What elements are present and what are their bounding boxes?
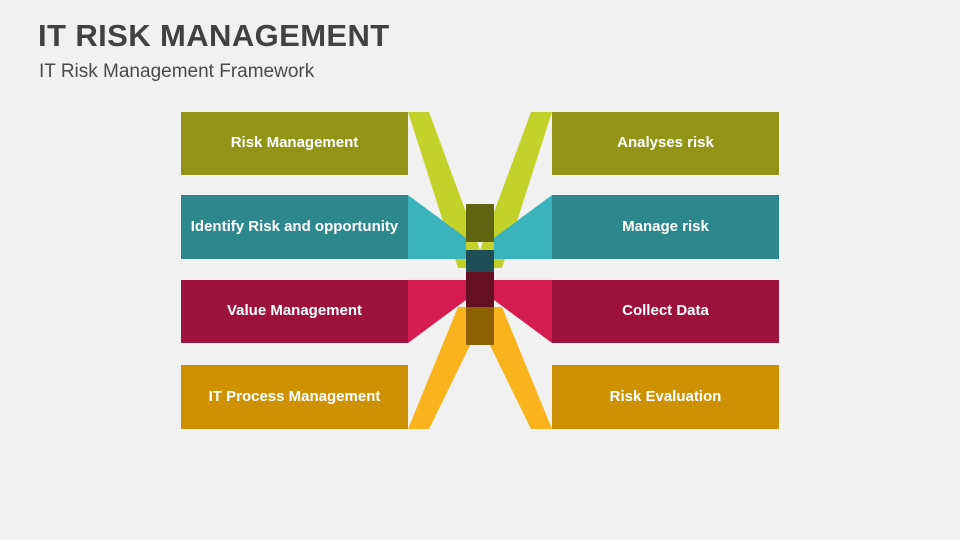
center-node-1: [466, 204, 494, 242]
row-1-left-bar[interactable]: [181, 112, 408, 175]
row-4-right-bar[interactable]: [552, 365, 779, 429]
it-risk-management-diagram: [0, 0, 960, 540]
row-2-left-bar[interactable]: [181, 195, 408, 259]
row-1-right-bar[interactable]: [552, 112, 779, 175]
row-3-left-bar[interactable]: [181, 280, 408, 343]
row-2-right-bar[interactable]: [552, 195, 779, 259]
row-3-right-bar[interactable]: [552, 280, 779, 343]
slide-canvas: IT RISK MANAGEMENT IT Risk Management Fr…: [0, 0, 960, 540]
center-node-4: [466, 307, 494, 345]
row-4-left-bar[interactable]: [181, 365, 408, 429]
center-node-3: [466, 272, 494, 310]
